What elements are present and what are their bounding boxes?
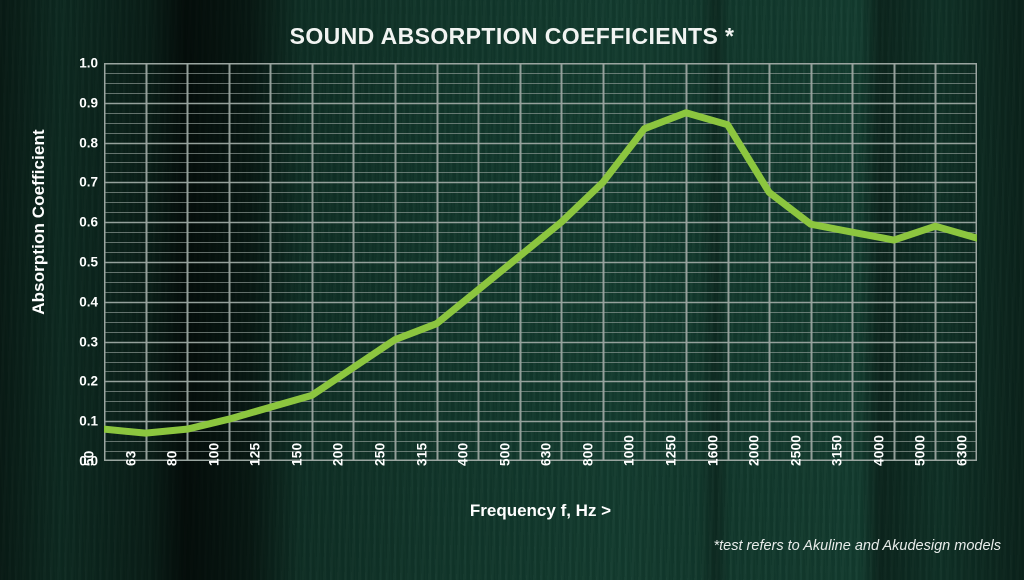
y-axis-tick-0.7: 0.7 — [52, 175, 98, 190]
x-axis-tick-1600: 1600 — [705, 435, 720, 466]
y-axis-tick-0.8: 0.8 — [52, 135, 98, 150]
chart-footnote: *test refers to Akuline and Akudesign mo… — [714, 538, 1001, 554]
x-axis-tick-80: 80 — [165, 450, 180, 466]
y-axis-tick-0.3: 0.3 — [52, 334, 98, 349]
y-axis-tick-0.5: 0.5 — [52, 255, 98, 270]
x-axis-tick-400: 400 — [456, 443, 471, 466]
x-axis-tick-2000: 2000 — [747, 435, 762, 466]
x-axis-tick-4000: 4000 — [871, 435, 886, 466]
x-axis-tick-125: 125 — [248, 443, 263, 466]
x-axis-tick-63: 63 — [123, 450, 138, 466]
x-axis-tick-315: 315 — [414, 443, 429, 466]
y-axis-tick-0.1: 0.1 — [52, 414, 98, 429]
y-axis-label: Absorption Coefficient — [29, 102, 49, 342]
chart-page: SOUND ABSORPTION COEFFICIENTS * Absorpti… — [0, 0, 1024, 580]
x-axis-tick-800: 800 — [580, 443, 595, 466]
x-axis-tick-100: 100 — [206, 443, 221, 466]
x-axis-tick-6300: 6300 — [955, 435, 970, 466]
x-axis-tick-150: 150 — [289, 443, 304, 466]
plot-area — [104, 63, 977, 461]
x-axis-tick-1250: 1250 — [664, 435, 679, 466]
x-axis-tick-3150: 3150 — [830, 435, 845, 466]
x-axis-tick-500: 500 — [497, 443, 512, 466]
chart-title: SOUND ABSORPTION COEFFICIENTS * — [0, 23, 1024, 50]
y-axis-tick-0.2: 0.2 — [52, 374, 98, 389]
y-axis-tick-0.9: 0.9 — [52, 95, 98, 110]
x-axis-tick-5000: 5000 — [913, 435, 928, 466]
x-axis-tick-50: 50 — [82, 450, 97, 466]
y-axis-tick-1.0: 1.0 — [52, 56, 98, 71]
x-axis-tick-200: 200 — [331, 443, 346, 466]
y-axis-tick-0.6: 0.6 — [52, 215, 98, 230]
x-axis-label: Frequency f, Hz > — [104, 501, 977, 521]
x-axis-tick-2500: 2500 — [788, 435, 803, 466]
x-axis-tick-250: 250 — [373, 443, 388, 466]
x-axis-tick-labels: 5063801001251502002503154005006308001000… — [104, 466, 977, 506]
y-axis-tick-0.4: 0.4 — [52, 294, 98, 309]
absorption-coefficient-line-chart — [104, 63, 977, 461]
y-axis-tick-labels: 0.00.10.20.30.40.50.60.70.80.91.0 — [48, 63, 98, 461]
x-axis-tick-1000: 1000 — [622, 435, 637, 466]
x-axis-tick-630: 630 — [539, 443, 554, 466]
